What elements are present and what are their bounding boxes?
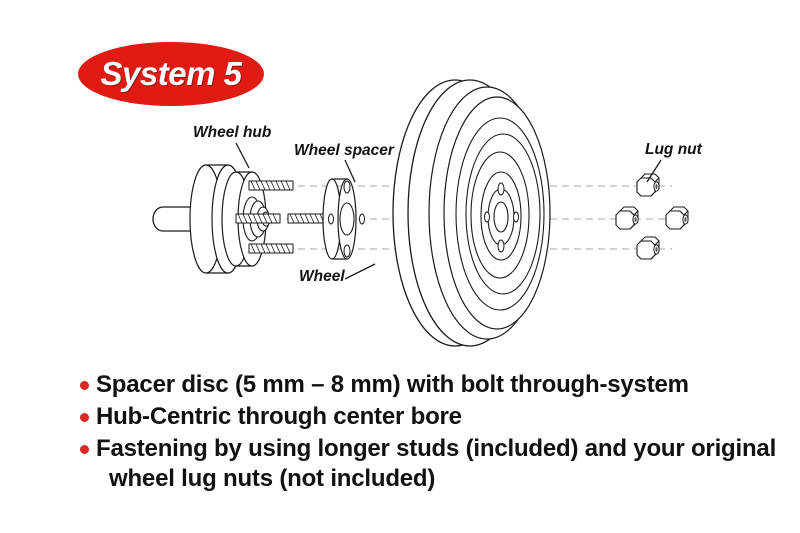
bullet-dot-icon: [80, 413, 89, 422]
label-wheel-hub: Wheel hub: [193, 124, 271, 142]
feature-text-2: Hub-Centric through center bore: [96, 402, 462, 432]
diagram-page: System 5: [0, 0, 800, 533]
label-wheel: Wheel: [299, 268, 345, 286]
label-lug-nut: Lug nut: [645, 141, 702, 159]
feature-text-1: Spacer disc (5 mm – 8 mm) with bolt thro…: [96, 370, 689, 400]
bullet-dot-icon: [80, 381, 89, 390]
bullet-dot-icon: [80, 445, 89, 454]
list-item: Spacer disc (5 mm – 8 mm) with bolt thro…: [80, 370, 780, 400]
feature-text-3-line2: wheel lug nuts (not included): [96, 464, 776, 494]
feature-text-3-line1: Fastening by using longer studs (include…: [96, 435, 776, 462]
list-item: Hub-Centric through center bore: [80, 402, 780, 432]
feature-text-3: Fastening by using longer studs (include…: [96, 434, 776, 494]
wheel: [393, 80, 550, 346]
feature-list: Spacer disc (5 mm – 8 mm) with bolt thro…: [80, 370, 780, 496]
list-item: Fastening by using longer studs (include…: [80, 434, 780, 494]
wheel-assembly-diagram: [0, 0, 800, 360]
label-wheel-spacer: Wheel spacer: [294, 142, 394, 160]
lug-nut-group: [616, 174, 688, 259]
